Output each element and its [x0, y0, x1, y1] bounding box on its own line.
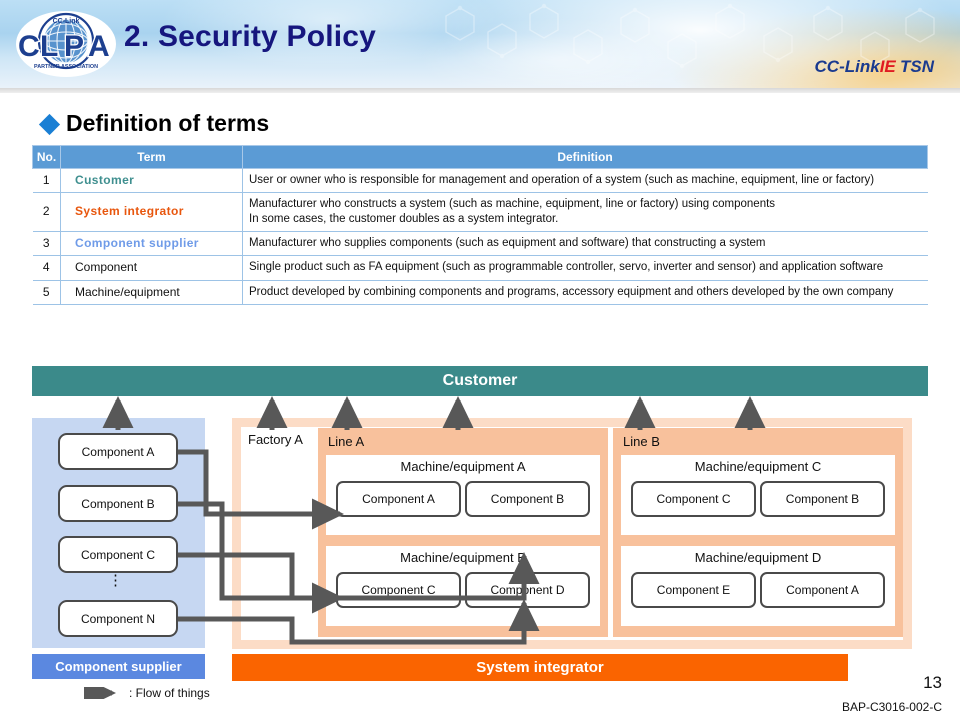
component-box: Component B: [465, 481, 590, 517]
svg-text:L: L: [40, 30, 58, 63]
cell-no: 5: [33, 280, 61, 304]
machine-equipment-a-box: Machine/equipment A Component A Componen…: [326, 455, 600, 535]
svg-text:CC-Link: CC-Link: [53, 18, 80, 25]
diamond-bullet-icon: [39, 114, 60, 135]
machine-equipment-c-label: Machine/equipment C: [621, 459, 895, 474]
column-header-definition: Definition: [243, 146, 928, 169]
component-box: Component D: [465, 572, 590, 608]
section-heading: Definition of terms: [42, 110, 269, 137]
clpa-logo: CC-Link PARTNER ASSOCIATION C L P A: [14, 8, 118, 80]
table-header-row: No. Term Definition: [33, 146, 928, 169]
page-title: 2. Security Policy: [124, 20, 376, 54]
svg-text:C: C: [18, 30, 40, 63]
component-box: Component E: [631, 572, 756, 608]
machine-equipment-d-box: Machine/equipment D Component E Componen…: [621, 546, 895, 626]
machine-equipment-d-label: Machine/equipment D: [621, 550, 895, 565]
table-body: 1CustomerUser or owner who is responsibl…: [33, 169, 928, 305]
factory-a-label: Factory A: [248, 432, 303, 447]
supply-chain-diagram: Customer Factory A Line A Machine/equipm…: [0, 366, 960, 686]
svg-text:A: A: [88, 30, 110, 63]
brand-tsn: TSN: [900, 57, 934, 76]
cell-no: 2: [33, 193, 61, 231]
system-integrator-bar-label: System integrator: [476, 659, 604, 676]
cell-definition: Product developed by combining component…: [243, 280, 928, 304]
cclink-ie-tsn-brand: CC-LinkIE TSN: [815, 57, 934, 77]
machine-d-components: Component E Component A: [631, 572, 885, 608]
supplier-component-a: Component A: [58, 433, 178, 470]
cell-term: Machine/equipment: [61, 280, 243, 304]
header-divider: [0, 88, 960, 93]
cell-definition: Manufacturer who supplies components (su…: [243, 231, 928, 255]
cell-no: 1: [33, 169, 61, 193]
machine-equipment-b-label: Machine/equipment B: [326, 550, 600, 565]
table-row: 2System integratorManufacturer who const…: [33, 193, 928, 231]
supplier-component-c: Component C: [58, 536, 178, 573]
machine-c-components: Component C Component B: [631, 481, 885, 517]
column-header-term: Term: [61, 146, 243, 169]
term-label: Machine/equipment: [75, 285, 180, 299]
component-box: Component A: [336, 481, 461, 517]
component-box: Component C: [336, 572, 461, 608]
cell-no: 4: [33, 256, 61, 280]
cell-term: Customer: [61, 169, 243, 193]
term-label: Component: [75, 260, 137, 274]
document-id: BAP-C3016-002-C: [842, 700, 942, 714]
legend-label: : Flow of things: [129, 686, 210, 700]
line-b-label: Line B: [623, 434, 660, 449]
table-row: 4ComponentSingle product such as FA equi…: [33, 256, 928, 280]
vertical-ellipsis: ⋮: [108, 573, 123, 588]
line-a-label: Line A: [328, 434, 364, 449]
legend-flow-of-things: : Flow of things: [82, 686, 210, 700]
component-box: Component A: [760, 572, 885, 608]
cell-term: System integrator: [61, 193, 243, 231]
column-header-no: No.: [33, 146, 61, 169]
line-b-box: Line B Machine/equipment C Component C C…: [613, 428, 903, 637]
cell-term: Component supplier: [61, 231, 243, 255]
term-label: Customer: [75, 173, 134, 187]
table-row: 1CustomerUser or owner who is responsibl…: [33, 169, 928, 193]
machine-equipment-a-label: Machine/equipment A: [326, 459, 600, 474]
machine-a-components: Component A Component B: [336, 481, 590, 517]
flow-arrow-icon: [82, 687, 124, 699]
cell-definition: Single product such as FA equipment (suc…: [243, 256, 928, 280]
table-row: 5Machine/equipmentProduct developed by c…: [33, 280, 928, 304]
cell-no: 3: [33, 231, 61, 255]
brand-ie: IE: [880, 57, 896, 76]
page-number: 13: [923, 673, 942, 693]
component-box: Component B: [760, 481, 885, 517]
component-supplier-bar: Component supplier: [32, 654, 205, 679]
component-supplier-bar-label: Component supplier: [55, 659, 181, 674]
table-row: 3Component supplierManufacturer who supp…: [33, 231, 928, 255]
customer-bar-label: Customer: [443, 372, 518, 390]
term-label: System integrator: [75, 204, 184, 218]
brand-cclink: CC-Link: [815, 57, 880, 76]
term-label: Component supplier: [75, 236, 199, 250]
customer-bar: Customer: [32, 366, 928, 396]
definition-of-terms-table: No. Term Definition 1CustomerUser or own…: [32, 145, 928, 305]
cell-definition: Manufacturer who constructs a system (su…: [243, 193, 928, 231]
svg-text:PARTNER ASSOCIATION: PARTNER ASSOCIATION: [34, 64, 98, 70]
slide-header: CC-Link PARTNER ASSOCIATION C L P A 2. S…: [0, 0, 960, 88]
component-box: Component C: [631, 481, 756, 517]
cell-definition: User or owner who is responsible for man…: [243, 169, 928, 193]
section-heading-label: Definition of terms: [66, 110, 269, 137]
machine-equipment-b-box: Machine/equipment B Component C Componen…: [326, 546, 600, 626]
svg-text:P: P: [64, 30, 84, 63]
supplier-component-b: Component B: [58, 485, 178, 522]
supplier-component-n: Component N: [58, 600, 178, 637]
machine-b-components: Component C Component D: [336, 572, 590, 608]
system-integrator-bar: System integrator: [232, 654, 848, 681]
line-a-box: Line A Machine/equipment A Component A C…: [318, 428, 608, 637]
cell-term: Component: [61, 256, 243, 280]
machine-equipment-c-box: Machine/equipment C Component C Componen…: [621, 455, 895, 535]
